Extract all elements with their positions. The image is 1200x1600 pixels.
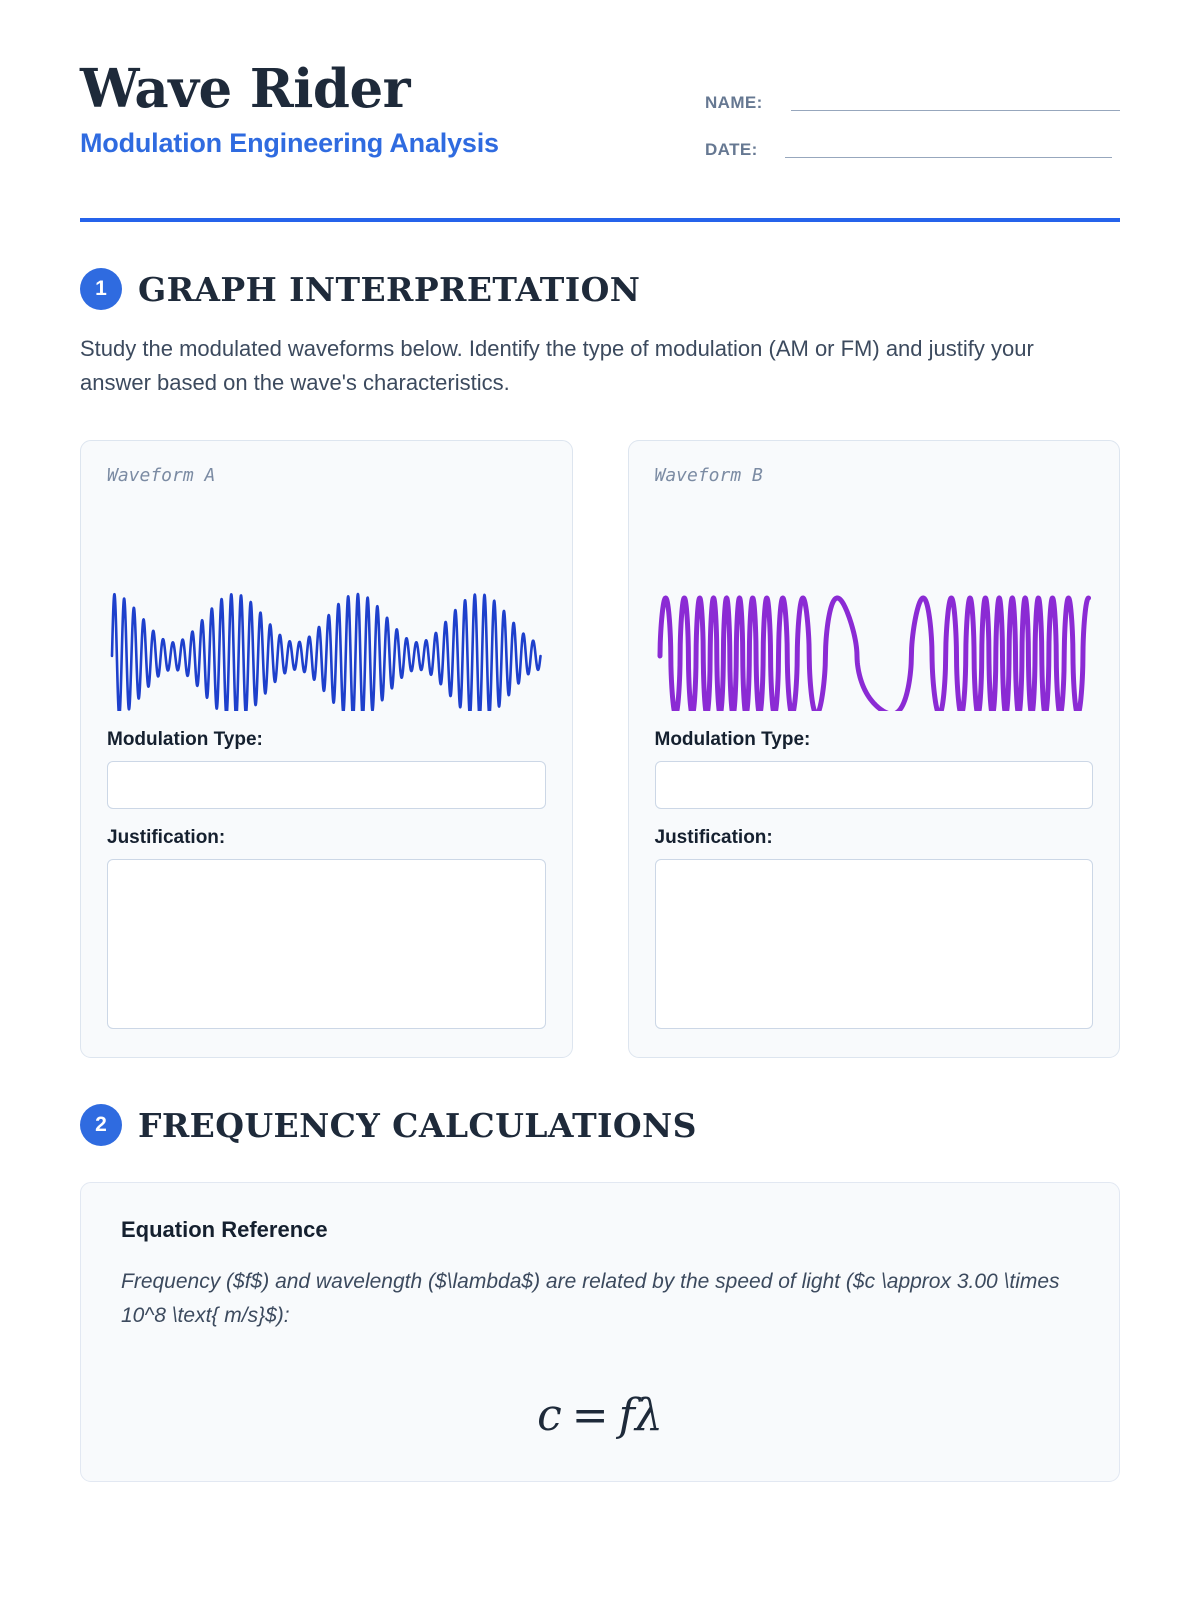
section-graph-interpretation: 1 GRAPH INTERPRETATION Study the modulat… <box>80 268 1120 1058</box>
formula-rhs-variable: f <box>619 1390 635 1441</box>
meta-fields: NAME: DATE: <box>705 62 1120 182</box>
worksheet-page: Wave Rider Modulation Engineering Analys… <box>0 0 1200 1600</box>
waveform-b-label: Waveform B <box>655 465 1094 486</box>
justification-textarea-a[interactable] <box>107 859 546 1029</box>
header-divider <box>80 218 1120 222</box>
justification-label-b: Justification: <box>655 827 1094 849</box>
modulation-type-label-a: Modulation Type: <box>107 729 546 751</box>
date-label: DATE: <box>705 141 785 158</box>
section-frequency-calculations: 2 FREQUENCY CALCULATIONS Equation Refere… <box>80 1104 1120 1482</box>
title-block: Wave Rider Modulation Engineering Analys… <box>80 62 499 159</box>
waveform-card-b: Waveform B Modulation Type: Justificatio… <box>628 440 1121 1058</box>
name-field-row: NAME: <box>705 88 1120 111</box>
formula-lhs: c <box>537 1390 562 1441</box>
page-subtitle: Modulation Engineering Analysis <box>80 128 499 159</box>
equation-reference-box: Equation Reference Frequency ($f$) and w… <box>80 1182 1120 1482</box>
waveform-card-a: Waveform A Modulation Type: Justificatio… <box>80 440 573 1058</box>
section-2-badge: 2 <box>80 1104 122 1146</box>
section-2-title: FREQUENCY CALCULATIONS <box>138 1106 697 1145</box>
waveform-b-chart <box>655 496 1094 711</box>
section-1-header: 1 GRAPH INTERPRETATION <box>80 268 1120 310</box>
equation-reference-heading: Equation Reference <box>121 1217 1079 1243</box>
section-1-badge: 1 <box>80 268 122 310</box>
name-label: NAME: <box>705 94 791 111</box>
date-input[interactable] <box>785 135 1112 158</box>
page-title: Wave Rider <box>80 62 499 118</box>
date-field-row: DATE: <box>705 135 1120 158</box>
modulation-type-input-b[interactable] <box>655 761 1094 809</box>
section-2-header: 2 FREQUENCY CALCULATIONS <box>80 1104 1120 1146</box>
section-1-title: GRAPH INTERPRETATION <box>138 270 640 309</box>
formula-operator: = <box>562 1390 619 1441</box>
waveform-a-chart <box>107 496 546 711</box>
modulation-type-input-a[interactable] <box>107 761 546 809</box>
waveform-a-label: Waveform A <box>107 465 546 486</box>
section-1-description: Study the modulated waveforms below. Ide… <box>80 332 1070 400</box>
equation-reference-body: Frequency ($f$) and wavelength ($\lambda… <box>121 1265 1079 1332</box>
justification-label-a: Justification: <box>107 827 546 849</box>
modulation-type-label-b: Modulation Type: <box>655 729 1094 751</box>
formula-rhs-symbol: λ <box>635 1390 663 1441</box>
equation-formula: c=fλ <box>121 1390 1079 1441</box>
justification-textarea-b[interactable] <box>655 859 1094 1029</box>
name-input[interactable] <box>791 88 1120 111</box>
document-header: Wave Rider Modulation Engineering Analys… <box>80 0 1120 182</box>
waveform-card-row: Waveform A Modulation Type: Justificatio… <box>80 440 1120 1058</box>
